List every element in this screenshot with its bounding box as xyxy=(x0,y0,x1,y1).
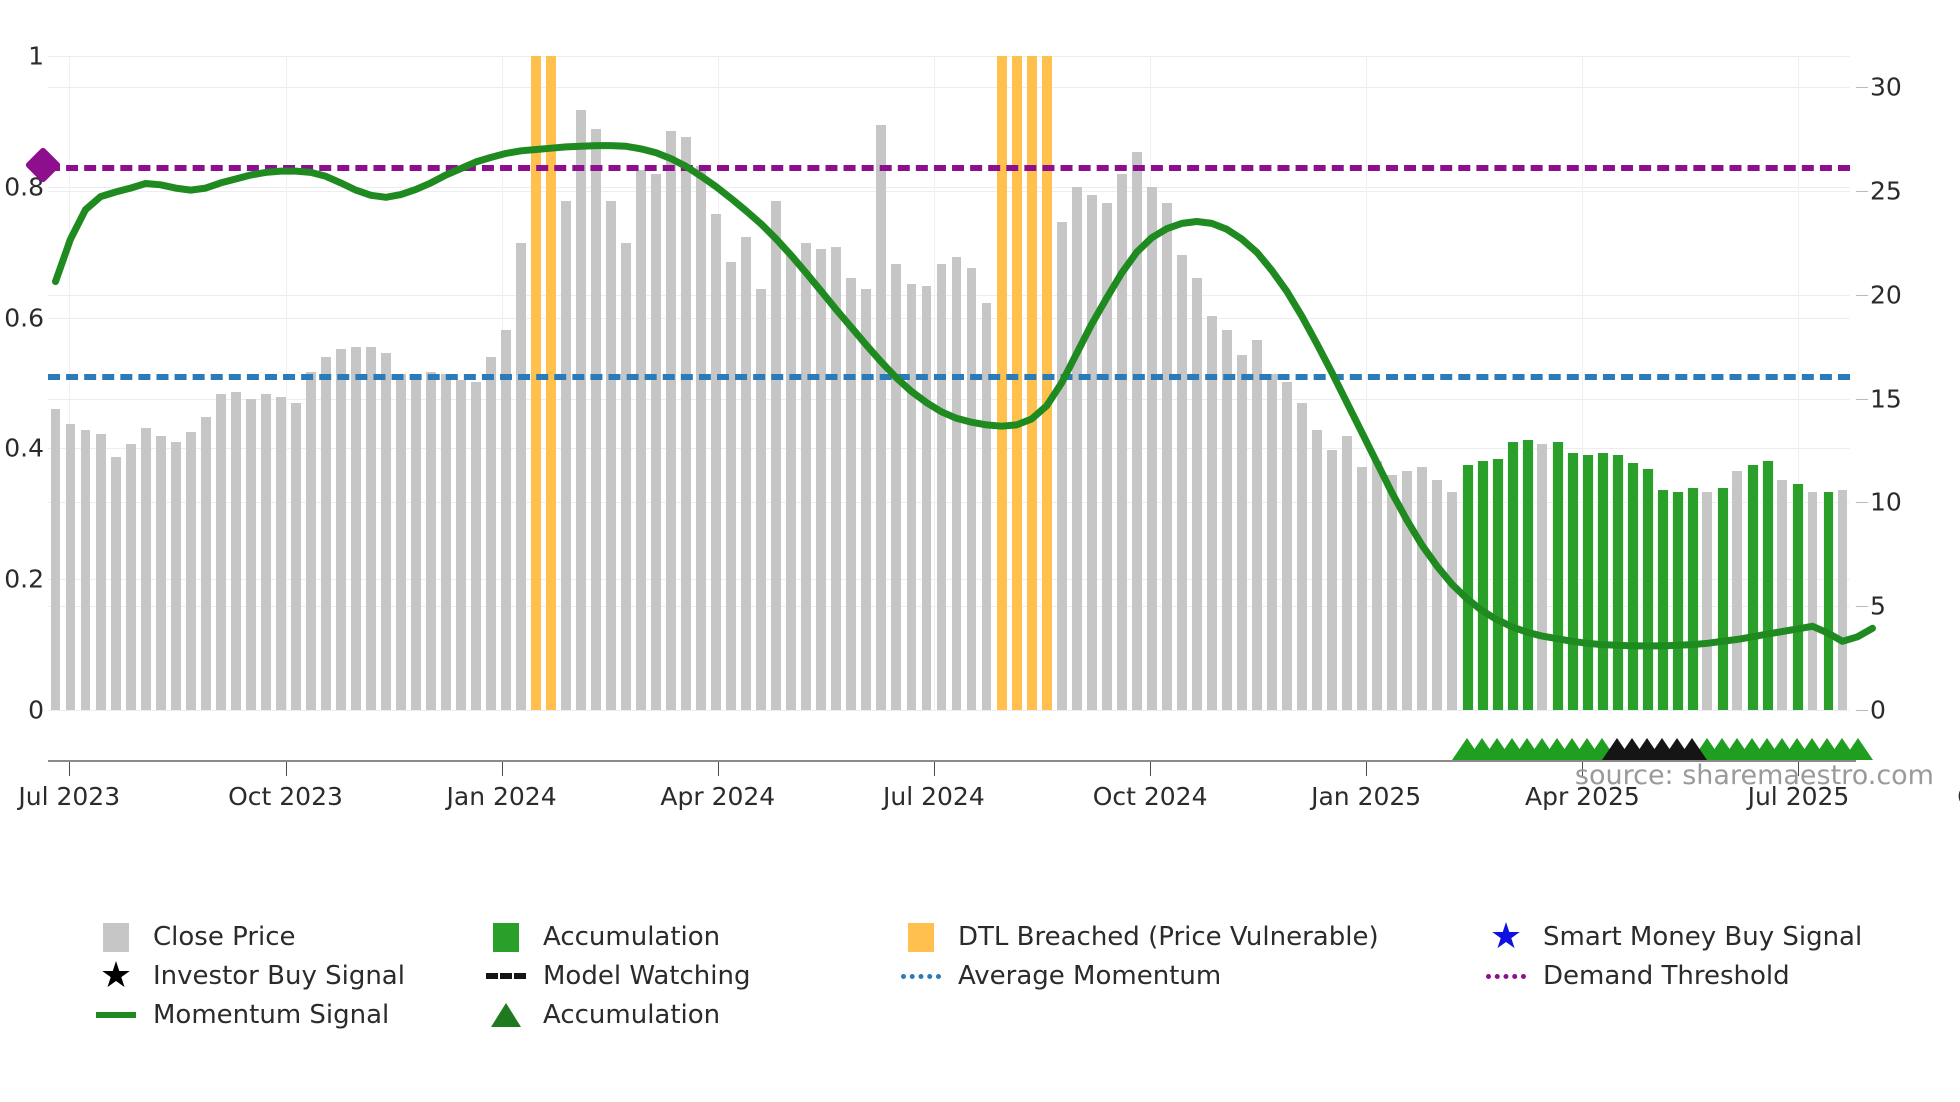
source-watermark: source: sharemaestro.com xyxy=(1575,760,1934,791)
x-axis-tick-label: Oct 2023 xyxy=(228,782,343,811)
x-axis-tick xyxy=(69,762,70,776)
left-axis-tick-label: 0.6 xyxy=(0,303,44,332)
left-axis-tick-label: 0.4 xyxy=(0,434,44,463)
legend-label: Accumulation xyxy=(543,1000,720,1030)
blue-star-icon: ★ xyxy=(1486,919,1526,955)
plot-area xyxy=(48,56,1850,710)
legend-item[interactable]: Average Momentum xyxy=(901,961,1221,991)
right-axis-tick xyxy=(1856,295,1868,296)
right-axis-tick xyxy=(1856,87,1868,88)
x-axis-tick-label: Jan 2024 xyxy=(447,782,557,811)
gray-square-icon xyxy=(96,923,136,952)
x-axis-tick-label: Jan 2025 xyxy=(1311,782,1421,811)
x-axis-tick xyxy=(286,762,287,776)
left-axis-tick-label: 0.2 xyxy=(0,565,44,594)
chart-root: 00.20.40.60.81 051015202530 Jul 2023Oct … xyxy=(0,0,1960,1102)
accumulation-marker xyxy=(1843,738,1873,760)
right-axis-tick-label: 5 xyxy=(1870,592,1886,621)
momentum-signal-line xyxy=(48,56,1850,710)
right-axis-tick xyxy=(1856,191,1868,192)
legend-label: Investor Buy Signal xyxy=(153,961,405,991)
legend-row: Momentum SignalAccumulation xyxy=(96,996,1926,1034)
legend-label: Momentum Signal xyxy=(153,1000,389,1030)
legend-item[interactable]: Close Price xyxy=(96,922,296,952)
green-square-icon xyxy=(486,923,526,952)
orange-square-icon xyxy=(901,923,941,952)
right-axis-tick xyxy=(1856,606,1868,607)
right-axis-tick-label: 0 xyxy=(1870,696,1886,725)
x-axis-tick-label: Jul 2024 xyxy=(883,782,985,811)
legend-label: Demand Threshold xyxy=(1543,961,1790,991)
legend-label: Smart Money Buy Signal xyxy=(1543,922,1862,952)
legend-label: Model Watching xyxy=(543,961,750,991)
x-axis-tick-label: Oct 2024 xyxy=(1093,782,1208,811)
legend-item[interactable]: Accumulation xyxy=(486,922,720,952)
black-star-icon: ★ xyxy=(96,958,136,994)
x-axis-tick xyxy=(1366,762,1367,776)
chart-legend: Close PriceAccumulationDTL Breached (Pri… xyxy=(96,918,1926,1035)
right-axis-tick-label: 25 xyxy=(1870,176,1902,205)
green-line-icon xyxy=(96,1012,136,1018)
blue-dotted-line-icon xyxy=(901,974,941,979)
x-axis-tick xyxy=(1150,762,1151,776)
gridline xyxy=(48,710,1850,711)
plot-inner xyxy=(48,56,1850,710)
x-axis-tick xyxy=(718,762,719,776)
right-axis-tick-label: 30 xyxy=(1870,73,1902,102)
signal-marker-strip xyxy=(48,726,1850,760)
x-axis-tick xyxy=(934,762,935,776)
legend-item[interactable]: Model Watching xyxy=(486,961,750,991)
legend-label: Close Price xyxy=(153,922,296,952)
right-axis-tick-label: 20 xyxy=(1870,280,1902,309)
legend-row: Close PriceAccumulationDTL Breached (Pri… xyxy=(96,918,1926,956)
legend-label: Accumulation xyxy=(543,922,720,952)
legend-item[interactable]: DTL Breached (Price Vulnerable) xyxy=(901,922,1379,952)
legend-item[interactable]: ★Smart Money Buy Signal xyxy=(1486,919,1862,955)
legend-label: Average Momentum xyxy=(958,961,1221,991)
right-axis-tick xyxy=(1856,399,1868,400)
legend-label: DTL Breached (Price Vulnerable) xyxy=(958,922,1379,952)
black-dashed-line-icon xyxy=(486,973,526,979)
right-axis-tick-label: 10 xyxy=(1870,488,1902,517)
right-axis-tick xyxy=(1856,502,1868,503)
legend-row: ★Investor Buy SignalModel WatchingAverag… xyxy=(96,957,1926,995)
model-watching-marker xyxy=(1677,738,1707,760)
legend-item[interactable]: Demand Threshold xyxy=(1486,961,1790,991)
x-axis-tick xyxy=(502,762,503,776)
right-axis-tick xyxy=(1856,710,1868,711)
right-axis-tick-label: 15 xyxy=(1870,384,1902,413)
purple-dotted-line-icon xyxy=(1486,974,1526,979)
x-axis-tick-label: Jul 2023 xyxy=(18,782,120,811)
legend-item[interactable]: ★Investor Buy Signal xyxy=(96,958,405,994)
left-axis-tick-label: 0 xyxy=(0,696,44,725)
x-axis-tick-label: Apr 2024 xyxy=(660,782,775,811)
green-triangle-icon xyxy=(486,1003,526,1027)
legend-item[interactable]: Momentum Signal xyxy=(96,1000,389,1030)
legend-item[interactable]: Accumulation xyxy=(486,1000,720,1030)
left-axis-tick-label: 1 xyxy=(0,42,44,71)
right-axis: 051015202530 xyxy=(1856,56,1916,710)
